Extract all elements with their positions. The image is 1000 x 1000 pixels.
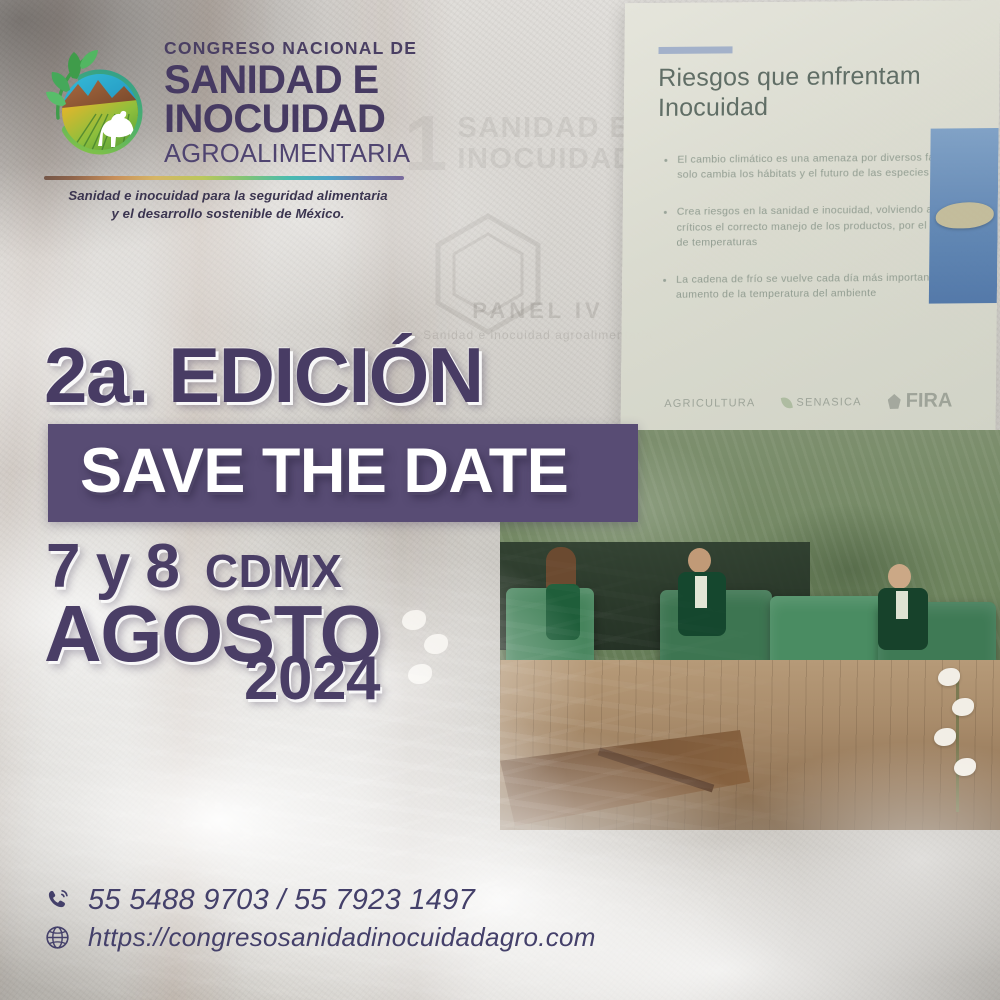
panelist-body [546, 584, 580, 640]
slide-title-line-2: Inocuidad [658, 90, 985, 123]
rainbow-divider [44, 176, 404, 180]
event-year: 2024 [244, 648, 380, 710]
watermark-line-1: SANIDAD E [457, 113, 635, 144]
tagline-line-2: y el desarrollo sostenible de México. [42, 205, 414, 223]
brand-title-line-2: INOCUIDAD [164, 100, 417, 139]
slide-image-fish [929, 128, 999, 304]
event-city: CDMX [205, 548, 342, 594]
stage-panelist [550, 550, 572, 574]
sponsor-agricultura: AGRICULTURA [664, 397, 755, 410]
fira-mark-icon [888, 394, 901, 409]
presentation-slide-photo: Riesgos que enfrentam Inocuidad El cambi… [621, 0, 1000, 433]
slide-accent-rule [658, 46, 732, 54]
tagline-line-1: Sanidad e inocuidad para la seguridad al… [42, 187, 414, 205]
slide-sponsor-logos: AGRICULTURA SENASICA FIRA [621, 389, 996, 415]
brand-tagline: Sanidad e inocuidad para la seguridad al… [42, 187, 414, 223]
logo-row: CONGRESO NACIONAL DE SANIDAD E INOCUIDAD… [38, 36, 430, 167]
globe-icon [42, 922, 72, 952]
watermark-text: SANIDAD E INOCUIDAD [457, 113, 635, 176]
save-the-date-poster: 1 SANIDAD E INOCUIDAD PANEL IV Sanidad e… [0, 0, 1000, 1000]
fish-shape [936, 202, 994, 229]
panelist-shirt [695, 576, 707, 608]
stage-panelist [888, 564, 911, 589]
brand-subtitle: AGROALIMENTARIA [164, 141, 417, 168]
brand-title: SANIDAD E INOCUIDAD [164, 61, 417, 139]
event-watermark: 1 SANIDAD E INOCUIDAD [404, 96, 654, 192]
brand-kicker: CONGRESO NACIONAL DE [164, 40, 417, 58]
sponsor-label: FIRA [906, 389, 953, 412]
brand-wordmark: CONGRESO NACIONAL DE SANIDAD E INOCUIDAD… [164, 36, 417, 167]
orchid-bloom [424, 634, 448, 654]
sponsor-label: SENASICA [796, 396, 861, 409]
contact-website-line[interactable]: https://congresosanidadinocuidadagro.com [42, 922, 662, 952]
orchid-bloom [408, 664, 432, 684]
stage-orchid-plant [926, 662, 992, 812]
sponsor-label: AGRICULTURA [664, 397, 755, 410]
edition-headline: 2a. EDICIÓN [44, 336, 483, 414]
phone-icon [42, 885, 72, 915]
sponsor-senasica: SENASICA [781, 396, 861, 409]
panelist-shirt [896, 591, 908, 619]
orchid-bloom [952, 698, 974, 716]
leaf-icon [780, 395, 792, 409]
save-the-date-band: SAVE THE DATE [48, 424, 638, 522]
contact-website-text: https://congresosanidadinocuidadagro.com [88, 923, 596, 952]
brand-title-line-1: SANIDAD E [164, 58, 379, 102]
foreground-orchid-plant [398, 600, 468, 720]
sponsor-fira: FIRA [888, 389, 953, 413]
orchid-bloom [402, 610, 426, 630]
panelist-head [688, 548, 711, 573]
orchid-bloom [954, 758, 976, 776]
brand-logo-lockup: CONGRESO NACIONAL DE SANIDAD E INOCUIDAD… [38, 36, 430, 223]
circular-agro-emblem-icon [38, 40, 156, 162]
panelist-head [888, 564, 911, 589]
watermark-line-2: INOCUIDAD [457, 144, 635, 175]
orchid-stem [956, 672, 959, 812]
slide-title-line-1: Riesgos que enfrentam [658, 60, 985, 93]
contact-footer: 55 5488 9703 / 55 7923 1497 https://cong… [42, 884, 662, 958]
orchid-bloom [934, 728, 956, 746]
stage-panelist [688, 548, 711, 573]
contact-phone-text: 55 5488 9703 / 55 7923 1497 [88, 884, 475, 916]
save-the-date-text: SAVE THE DATE [80, 440, 568, 503]
contact-phone-line[interactable]: 55 5488 9703 / 55 7923 1497 [42, 884, 662, 916]
